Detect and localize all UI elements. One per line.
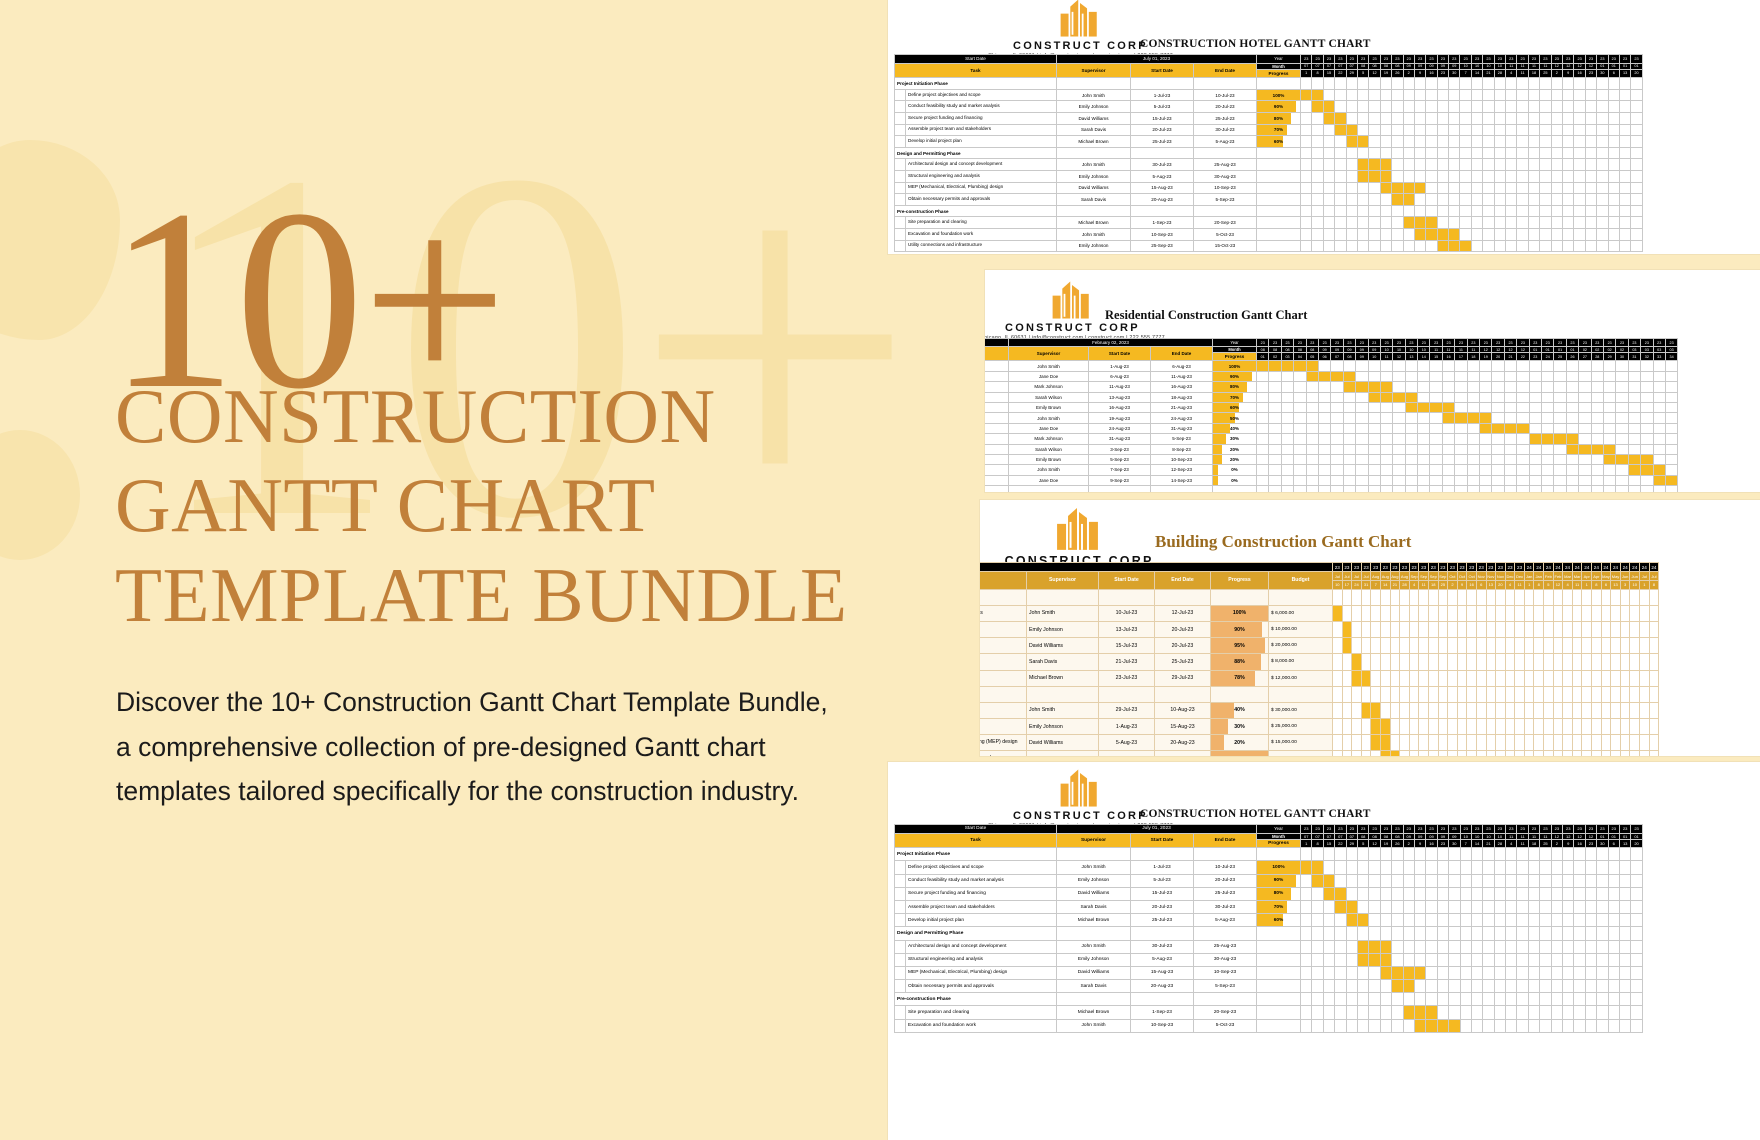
timeline-year-label: Year xyxy=(1257,825,1301,834)
timeline-cell xyxy=(1257,402,1269,412)
timeline-day-cell: 16 xyxy=(1442,353,1454,361)
timeline-cell xyxy=(1597,240,1608,252)
table-row[interactable]: Excavation and foundation workJohn Smith… xyxy=(895,228,1643,240)
timeline-cell xyxy=(1301,112,1312,124)
timeline-cell xyxy=(1540,1006,1551,1019)
timeline-cell xyxy=(1608,170,1619,182)
gantt-bar-cell xyxy=(1449,1019,1460,1032)
timeline-cell xyxy=(1361,638,1371,654)
timeline-cell xyxy=(1528,217,1539,229)
table-row[interactable]: Room Design and PlanningJohn Smith1-Aug-… xyxy=(985,361,1678,371)
cell-supervisor: Michael Brown xyxy=(1057,136,1131,148)
timeline-cell xyxy=(1281,402,1293,412)
row-indent xyxy=(895,182,906,194)
timeline-cell xyxy=(1380,112,1391,124)
timeline-cell xyxy=(1257,392,1269,402)
timeline-cell xyxy=(1631,861,1642,874)
timeline-cell xyxy=(1529,392,1541,402)
timeline-cell xyxy=(1343,361,1355,371)
timeline-cell xyxy=(1494,874,1505,887)
cell-supervisor: David Williams xyxy=(1057,182,1131,194)
timeline-cell xyxy=(1357,78,1368,90)
timeline-cell xyxy=(1553,735,1563,751)
table-row[interactable]: Develop initial project planMichael Brow… xyxy=(895,914,1643,927)
gantt-bar-cell xyxy=(1403,194,1414,206)
timeline-cell xyxy=(1483,101,1494,113)
timeline-cell xyxy=(1579,486,1591,492)
timeline-cell xyxy=(1476,589,1486,605)
timeline-cell xyxy=(1356,402,1368,412)
timeline-day-cell: 04 xyxy=(1294,353,1306,361)
timeline-year-cell: 23 xyxy=(1356,339,1368,347)
timeline-cell xyxy=(1331,413,1343,423)
timeline-cell xyxy=(1405,454,1417,464)
timeline-cell xyxy=(1494,940,1505,953)
timeline-cell xyxy=(1335,1006,1346,1019)
timeline-cell xyxy=(1467,465,1479,475)
table-row[interactable]: Excavation and foundation workJohn Smith… xyxy=(895,1019,1643,1032)
col-header-progress: Progress xyxy=(1213,353,1257,361)
phase-end xyxy=(1194,848,1257,861)
timeline-cell xyxy=(1608,182,1619,194)
cell-end-date: 10-Sep-23 xyxy=(1151,454,1213,464)
table-row[interactable]: Architectural designJohn Smith29-Jul-231… xyxy=(980,702,1659,718)
timeline-cell xyxy=(1390,654,1400,670)
timeline-cell xyxy=(1585,953,1596,966)
timeline-cell xyxy=(1529,444,1541,454)
timeline-cell xyxy=(1301,170,1312,182)
timeline-cell xyxy=(1528,170,1539,182)
timeline-cell xyxy=(1640,654,1650,670)
timeline-cell xyxy=(1449,887,1460,900)
timeline-cell xyxy=(1346,874,1357,887)
table-row[interactable]: Secure project funding and financingDavi… xyxy=(895,887,1643,900)
cell-progress: 0% xyxy=(1213,475,1257,485)
timeline-cell xyxy=(1506,89,1517,101)
sheet-table-wrap: Start DateJuly 01, 2023Year2323232323232… xyxy=(894,54,1643,252)
gantt-bar-cell xyxy=(1380,751,1390,756)
timeline-year-cell: 23 xyxy=(1574,55,1585,64)
cell-progress xyxy=(1257,228,1301,240)
timeline-cell xyxy=(1619,182,1630,194)
timeline-cell xyxy=(1542,382,1554,392)
cell-end-date: 20-Sep-23 xyxy=(1194,217,1257,229)
timeline-cell xyxy=(1405,486,1417,492)
table-row[interactable]: Develop project planMichael Brown23-Jul-… xyxy=(980,670,1659,686)
timeline-cell xyxy=(1301,240,1312,252)
timeline-cell xyxy=(1540,927,1551,940)
cell-end-date: 5-Oct-23 xyxy=(1194,1019,1257,1032)
timeline-cell xyxy=(1592,719,1602,735)
timeline-cell xyxy=(1540,953,1551,966)
timeline-year-cell: 23 xyxy=(1457,563,1467,572)
gantt-bar-cell xyxy=(1566,434,1578,444)
cell-budget: $ 8,000.00 xyxy=(1269,654,1333,670)
timeline-cell xyxy=(1505,621,1515,637)
timeline-cell xyxy=(1368,486,1380,492)
gantt-bar-cell xyxy=(1455,413,1467,423)
gantt-bar-cell xyxy=(1380,182,1391,194)
table-row[interactable]: Secure project fundingDavid Williams15-J… xyxy=(980,638,1659,654)
timeline-cell xyxy=(1449,136,1460,148)
timeline-cell xyxy=(1515,621,1525,637)
timeline-cell xyxy=(1476,735,1486,751)
startdate-label: Start Date xyxy=(895,55,1057,64)
timeline-cell xyxy=(1620,589,1630,605)
table-row[interactable]: Furniture AssemblyMark Johnson31-Aug-235… xyxy=(985,434,1678,444)
timeline-cell xyxy=(1449,874,1460,887)
timeline-cell xyxy=(1591,402,1603,412)
timeline-cell xyxy=(1631,927,1642,940)
gantt-bar-cell xyxy=(1437,240,1448,252)
timeline-cell xyxy=(1471,170,1482,182)
phase-end xyxy=(1155,589,1211,605)
timeline-cell xyxy=(1504,413,1516,423)
timeline-day-cell: 25 xyxy=(1438,580,1448,589)
timeline-cell xyxy=(1528,1019,1539,1032)
timeline-cell xyxy=(1506,147,1517,159)
gantt-bar-cell xyxy=(1504,423,1516,433)
timeline-cell xyxy=(1603,465,1615,475)
table-row[interactable]: Obtain necessary permits and approvalsSa… xyxy=(895,980,1643,993)
timeline-cell xyxy=(1357,89,1368,101)
table-row[interactable]: Final Inspections and TestingJohn Smith7… xyxy=(985,465,1678,475)
timeline-year-cell: 24 xyxy=(1563,563,1573,572)
timeline-year-cell: 23 xyxy=(1631,55,1642,64)
timeline-cell xyxy=(1426,170,1437,182)
table-row[interactable]: Assemble project team and stakeholdersSa… xyxy=(895,124,1643,136)
timeline-cell xyxy=(1619,900,1630,913)
timeline-cell xyxy=(1542,486,1554,492)
timeline-cell xyxy=(1517,940,1528,953)
timeline-cell xyxy=(1572,605,1582,621)
timeline-cell xyxy=(1494,980,1505,993)
table-row[interactable]: Mechanical, electrical, and plumbing (ME… xyxy=(980,735,1659,751)
timeline-cell xyxy=(1457,670,1467,686)
timeline-day-cell: 8 xyxy=(1534,580,1544,589)
phase-progress xyxy=(1257,848,1301,861)
timeline-day-cell: 31 xyxy=(1361,580,1371,589)
timeline-day-cell: 19 xyxy=(1480,353,1492,361)
timeline-day-cell: 16 xyxy=(1574,69,1585,78)
timeline-cell xyxy=(1460,78,1471,90)
timeline-cell xyxy=(1356,423,1368,433)
timeline-cell xyxy=(1346,112,1357,124)
row-indent xyxy=(895,136,906,148)
timeline-cell xyxy=(1346,980,1357,993)
timeline-cell xyxy=(1574,993,1585,1006)
timeline-cell xyxy=(1457,686,1467,702)
timeline-cell xyxy=(1312,993,1323,1006)
table-row[interactable]: Purchase FurnitureJane Doe6-Aug-2311-Aug… xyxy=(985,371,1678,381)
cell-end-date: 10-Sep-23 xyxy=(1194,966,1257,979)
gantt-bar-cell xyxy=(1405,392,1417,402)
timeline-cell xyxy=(1486,605,1496,621)
table-row[interactable]: Project CompletionJane Doe9-Sep-2314-Sep… xyxy=(985,475,1678,485)
timeline-cell xyxy=(1342,751,1352,756)
timeline-cell xyxy=(1665,434,1677,444)
cell-task: Utility connections and infrastructure xyxy=(906,240,1057,252)
timeline-cell xyxy=(1281,465,1293,475)
timeline-cell xyxy=(1641,444,1653,454)
gantt-bar-cell xyxy=(1442,413,1454,423)
timeline-cell xyxy=(1467,589,1477,605)
timeline-cell xyxy=(1312,966,1323,979)
table-row[interactable]: MEP (Mechanical, Electrical, Plumbing) d… xyxy=(895,966,1643,979)
table-row[interactable]: Architectural design and concept develop… xyxy=(895,940,1643,953)
cell-progress xyxy=(1257,1019,1301,1032)
table-row[interactable]: Lighting and Fixture SetupEmily Brown5-S… xyxy=(985,454,1678,464)
table-row[interactable]: Electrical WorkSarah Wilson13-Aug-2318-A… xyxy=(985,392,1678,402)
timeline-cell xyxy=(1619,980,1630,993)
timeline-cell xyxy=(1257,382,1269,392)
timeline-cell xyxy=(1428,638,1438,654)
timeline-cell xyxy=(1574,124,1585,136)
timeline-cell xyxy=(1540,861,1551,874)
timeline-day-cell: 08 xyxy=(1343,353,1355,361)
cell-end-date: 5-Sep-23 xyxy=(1151,434,1213,444)
timeline-cell xyxy=(1403,940,1414,953)
timeline-cell xyxy=(1572,638,1582,654)
table-row[interactable]: Obtain necessary permits and approvalsSa… xyxy=(980,751,1659,756)
table-row[interactable]: Conduct feasibility study and market ana… xyxy=(895,101,1643,113)
timeline-cell xyxy=(1640,638,1650,654)
cell-end-date: 20-Aug-23 xyxy=(1155,735,1211,751)
timeline-cell xyxy=(1333,719,1343,735)
timeline-cell xyxy=(1476,621,1486,637)
timeline-cell xyxy=(1449,217,1460,229)
cell-supervisor: John Smith xyxy=(1057,159,1131,171)
timeline-month-cell: Dec xyxy=(1515,572,1525,581)
table-row[interactable]: Architectural design and concept develop… xyxy=(895,159,1643,171)
timeline-cell xyxy=(1641,402,1653,412)
table-row[interactable]: Conduct feasibility studyEmily Johnson13… xyxy=(980,621,1659,637)
timeline-cell xyxy=(1619,228,1630,240)
timeline-cell xyxy=(1301,159,1312,171)
timeline-cell xyxy=(1619,240,1630,252)
timeline-cell xyxy=(1426,927,1437,940)
timeline-year-cell: 23 xyxy=(1400,563,1410,572)
table-row[interactable]: Secure project funding and financingDavi… xyxy=(895,112,1643,124)
timeline-cell xyxy=(1494,914,1505,927)
table-row[interactable]: Structural engineeringEmily Johnson1-Aug… xyxy=(980,719,1659,735)
timeline-month-cell: Sep xyxy=(1409,572,1419,581)
timeline-cell xyxy=(1455,434,1467,444)
cell-end-date: 14-Sep-23 xyxy=(1151,475,1213,485)
gantt-bar-cell xyxy=(1357,170,1368,182)
timeline-cell xyxy=(1418,413,1430,423)
table-row[interactable]: Assemble project team and stakeholdersSa… xyxy=(895,900,1643,913)
timeline-cell xyxy=(1318,475,1330,485)
timeline-cell xyxy=(1419,719,1429,735)
timeline-cell xyxy=(1616,413,1628,423)
timeline-cell xyxy=(1471,194,1482,206)
timeline-cell xyxy=(1480,486,1492,492)
timeline-cell xyxy=(1368,475,1380,485)
timeline-cell xyxy=(1528,194,1539,206)
timeline-cell xyxy=(1597,980,1608,993)
timeline-day-cell: 6 xyxy=(1476,580,1486,589)
timeline-cell xyxy=(1574,240,1585,252)
timeline-cell xyxy=(1438,605,1448,621)
table-row[interactable]: Form project teamSarah Davis21-Jul-2325-… xyxy=(980,654,1659,670)
timeline-cell xyxy=(1403,953,1414,966)
timeline-cell xyxy=(1540,170,1551,182)
timeline-cell xyxy=(1438,638,1448,654)
timeline-cell xyxy=(1506,159,1517,171)
gantt-bar-cell xyxy=(1437,228,1448,240)
timeline-cell xyxy=(1494,848,1505,861)
timeline-cell xyxy=(1333,654,1343,670)
cell-start-date: 7-Sep-23 xyxy=(1089,465,1151,475)
cell-budget: $ 12,000.00 xyxy=(1269,670,1333,686)
table-row[interactable]: Site preparation and clearingMichael Bro… xyxy=(895,217,1643,229)
timeline-cell xyxy=(1563,914,1574,927)
table-row[interactable]: Painting and FinishingJohn Smith19-Aug-2… xyxy=(985,413,1678,423)
timeline-cell xyxy=(1540,900,1551,913)
cell-end-date: 5-Sep-23 xyxy=(1194,980,1257,993)
timeline-year-cell: 23 xyxy=(1312,55,1323,64)
timeline-day-cell: 9 xyxy=(1414,839,1425,848)
timeline-cell xyxy=(1619,993,1630,1006)
timeline-cell xyxy=(1551,993,1562,1006)
timeline-cell xyxy=(1603,402,1615,412)
timeline-day-cell: 30 xyxy=(1449,839,1460,848)
cell-start-date: 1-Aug-23 xyxy=(1099,719,1155,735)
table-row[interactable]: MEP (Mechanical, Electrical, Plumbing) d… xyxy=(895,182,1643,194)
template-sheet-3[interactable]: CONSTRUCT CORPChicago, IL 60631 | info@c… xyxy=(980,500,1760,756)
cell-end-date: 15-Aug-23 xyxy=(1155,719,1211,735)
timeline-cell xyxy=(1665,402,1677,412)
timeline-cell xyxy=(1281,444,1293,454)
gantt-bar-cell xyxy=(1403,217,1414,229)
timeline-cell xyxy=(1343,413,1355,423)
timeline-cell xyxy=(1494,228,1505,240)
table-row[interactable]: Conduct feasibility study and market ana… xyxy=(895,874,1643,887)
table-row[interactable]: Define project scope and objectivesJohn … xyxy=(980,605,1659,621)
table-row[interactable]: Blackboard InstallationSarah Wilson3-Sep… xyxy=(985,444,1678,454)
timeline-day-cell: 18 xyxy=(1528,69,1539,78)
timeline-cell xyxy=(1390,589,1400,605)
cell-task: Electrical Work xyxy=(985,392,1009,402)
timeline-cell xyxy=(1400,621,1410,637)
timeline-cell xyxy=(1357,147,1368,159)
table-row[interactable]: Utility connections and infrastructureEm… xyxy=(895,240,1643,252)
timeline-cell xyxy=(1403,89,1414,101)
timeline-day-cell: 29 xyxy=(1346,69,1357,78)
template-sheet-2[interactable]: CONSTRUCT CORPChicago, IL 60631 | info@c… xyxy=(985,270,1760,492)
timeline-cell xyxy=(1449,848,1460,861)
timeline-cell xyxy=(1369,205,1380,217)
table-row[interactable]: Plumbing WorkEmily Brown16-Aug-2321-Aug-… xyxy=(985,402,1678,412)
cell-start-date: 25-Sep-23 xyxy=(1131,240,1194,252)
col-header-enddate: End Date xyxy=(1155,572,1211,589)
timeline-cell xyxy=(1574,953,1585,966)
timeline-cell xyxy=(1524,751,1534,756)
table-row[interactable]: Define project objectives and scopeJohn … xyxy=(895,89,1643,101)
timeline-cell xyxy=(1579,402,1591,412)
cell-start-date: 3-Sep-23 xyxy=(1089,444,1151,454)
timeline-cell xyxy=(1542,444,1554,454)
timeline-cell xyxy=(1269,434,1281,444)
template-sheet-4[interactable]: CONSTRUCT CORPChicago, IL 60631 | info@c… xyxy=(888,762,1760,1140)
timeline-year-cell: 23 xyxy=(1665,339,1677,347)
timeline-cell xyxy=(1608,914,1619,927)
timeline-cell xyxy=(1414,240,1425,252)
table-row[interactable]: Structural engineering and analysisEmily… xyxy=(895,170,1643,182)
timeline-cell xyxy=(1551,194,1562,206)
timeline-year-cell: 23 xyxy=(1591,339,1603,347)
timeline-year-cell: 23 xyxy=(1515,563,1525,572)
timeline-month-cell: Nov xyxy=(1486,572,1496,581)
timeline-cell xyxy=(1393,475,1405,485)
timeline-cell xyxy=(1414,848,1425,861)
timeline-cell xyxy=(1438,621,1448,637)
timeline-cell xyxy=(1409,702,1419,718)
timeline-cell xyxy=(1585,861,1596,874)
timeline-cell xyxy=(1437,848,1448,861)
timeline-cell xyxy=(1492,413,1504,423)
table-row[interactable]: Develop initial project planMichael Brow… xyxy=(895,136,1643,148)
timeline-cell xyxy=(1426,112,1437,124)
timeline-cell xyxy=(1467,444,1479,454)
timeline-cell xyxy=(1517,434,1529,444)
timeline-cell xyxy=(1357,927,1368,940)
timeline-cell xyxy=(1649,605,1659,621)
timeline-cell xyxy=(1403,101,1414,113)
timeline-cell xyxy=(1312,170,1323,182)
timeline-cell xyxy=(1649,735,1659,751)
timeline-cell xyxy=(1380,101,1391,113)
timeline-year-cell: 24 xyxy=(1601,563,1611,572)
timeline-cell xyxy=(1418,392,1430,402)
timeline-cell xyxy=(1346,101,1357,113)
timeline-cell xyxy=(1323,993,1334,1006)
phase-end xyxy=(1194,205,1257,217)
timeline-cell xyxy=(1540,993,1551,1006)
table-row[interactable]: Purchase BlackboardMark Johnson11-Aug-23… xyxy=(985,382,1678,392)
timeline-year-cell: 23 xyxy=(1476,563,1486,572)
timeline-cell xyxy=(1540,101,1551,113)
template-sheet-1[interactable]: CONSTRUCT CORPChicago, IL 60631 | info@c… xyxy=(888,0,1760,254)
timeline-cell xyxy=(1506,953,1517,966)
timeline-cell xyxy=(1619,940,1630,953)
table-row[interactable]: Structural engineering and analysisEmily… xyxy=(895,953,1643,966)
timeline-cell xyxy=(1426,147,1437,159)
timeline-cell xyxy=(1528,112,1539,124)
cell-end-date: 31-Aug-23 xyxy=(1151,423,1213,433)
timeline-cell xyxy=(1601,589,1611,605)
timeline-cell xyxy=(1380,205,1391,217)
timeline-cell xyxy=(1471,112,1482,124)
timeline-cell xyxy=(1619,124,1630,136)
table-row[interactable]: Define project objectives and scopeJohn … xyxy=(895,861,1643,874)
timeline-cell xyxy=(1585,1006,1596,1019)
timeline-day-cell: 22 xyxy=(1335,839,1346,848)
cell-start-date: 5-Aug-23 xyxy=(1099,735,1155,751)
timeline-cell xyxy=(1649,719,1659,735)
cell-progress: 60% xyxy=(1257,914,1301,927)
table-row[interactable]: Site preparation and clearingMichael Bro… xyxy=(895,1006,1643,1019)
table-row[interactable]: Flooring InstallationJane Doe24-Aug-2331… xyxy=(985,423,1678,433)
gantt-bar-cell xyxy=(1357,914,1368,927)
timeline-cell xyxy=(1403,848,1414,861)
table-row[interactable]: Obtain necessary permits and approvalsSa… xyxy=(895,194,1643,206)
timeline-cell xyxy=(1506,900,1517,913)
timeline-year-cell: 23 xyxy=(1301,825,1312,834)
timeline-cell xyxy=(1566,402,1578,412)
timeline-cell xyxy=(1574,1006,1585,1019)
